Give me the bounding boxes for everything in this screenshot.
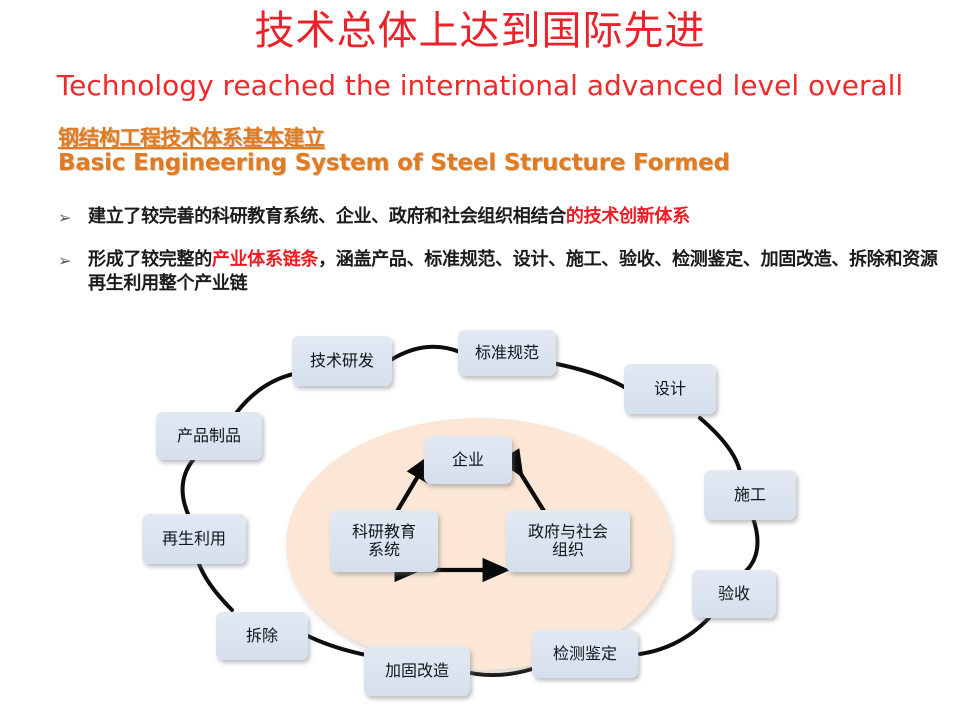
bullet-1-segment-highlight: 的技术创新体系 xyxy=(566,206,690,227)
node-design[interactable]: 设计 xyxy=(624,364,716,414)
node-standards-norms[interactable]: 标准规范 xyxy=(458,330,556,376)
node-construction[interactable]: 施工 xyxy=(704,470,796,520)
slide-title-english: Technology reached the international adv… xyxy=(0,70,960,102)
bullet-text-2: 形成了较完整的产业体系链条，涵盖产品、标准规范、设计、施工、验收、检测鉴定、加固… xyxy=(88,248,938,296)
section-heading-chinese: 钢结构工程技术体系基本建立 xyxy=(58,122,325,152)
slide-title-chinese: 技术总体上达到国际先进 xyxy=(0,8,960,54)
arrow-bullet-icon: ➢ xyxy=(58,248,88,271)
bullet-item-1: ➢ 建立了较完善的科研教育系统、企业、政府和社会组织相结合的技术创新体系 xyxy=(58,205,938,229)
node-enterprise[interactable]: 企业 xyxy=(424,436,512,484)
bullet-text-1: 建立了较完善的科研教育系统、企业、政府和社会组织相结合的技术创新体系 xyxy=(88,205,938,229)
node-reinforcement-renovation[interactable]: 加固改造 xyxy=(364,646,470,696)
node-technology-rd[interactable]: 技术研发 xyxy=(292,336,392,386)
arrow-bullet-icon: ➢ xyxy=(58,205,88,228)
bullet-1-segment-plain: 建立了较完善的科研教育系统、企业、政府和社会组织相结合 xyxy=(88,206,566,227)
node-acceptance[interactable]: 验收 xyxy=(692,570,776,618)
node-inspection-appraisal[interactable]: 检测鉴定 xyxy=(532,630,638,678)
industry-chain-diagram: 企业 科研教育 系统 政府与社会 组织 标准规范 设计 施工 验收 检测鉴定 加… xyxy=(0,318,960,720)
bullet-item-2: ➢ 形成了较完整的产业体系链条，涵盖产品、标准规范、设计、施工、验收、检测鉴定、… xyxy=(58,248,938,296)
section-heading-english: Basic Engineering System of Steel Struct… xyxy=(58,150,730,176)
bullet-2-segment-plain-a: 形成了较完整的 xyxy=(88,249,212,270)
node-government-social-organizations[interactable]: 政府与社会 组织 xyxy=(506,510,630,572)
node-recycling-reuse[interactable]: 再生利用 xyxy=(142,514,246,564)
bullet-2-segment-highlight: 产业体系链条 xyxy=(212,249,318,270)
node-product-manufacturing[interactable]: 产品制品 xyxy=(156,412,262,460)
node-research-education-system[interactable]: 科研教育 系统 xyxy=(330,510,438,572)
node-demolition[interactable]: 拆除 xyxy=(216,612,308,660)
